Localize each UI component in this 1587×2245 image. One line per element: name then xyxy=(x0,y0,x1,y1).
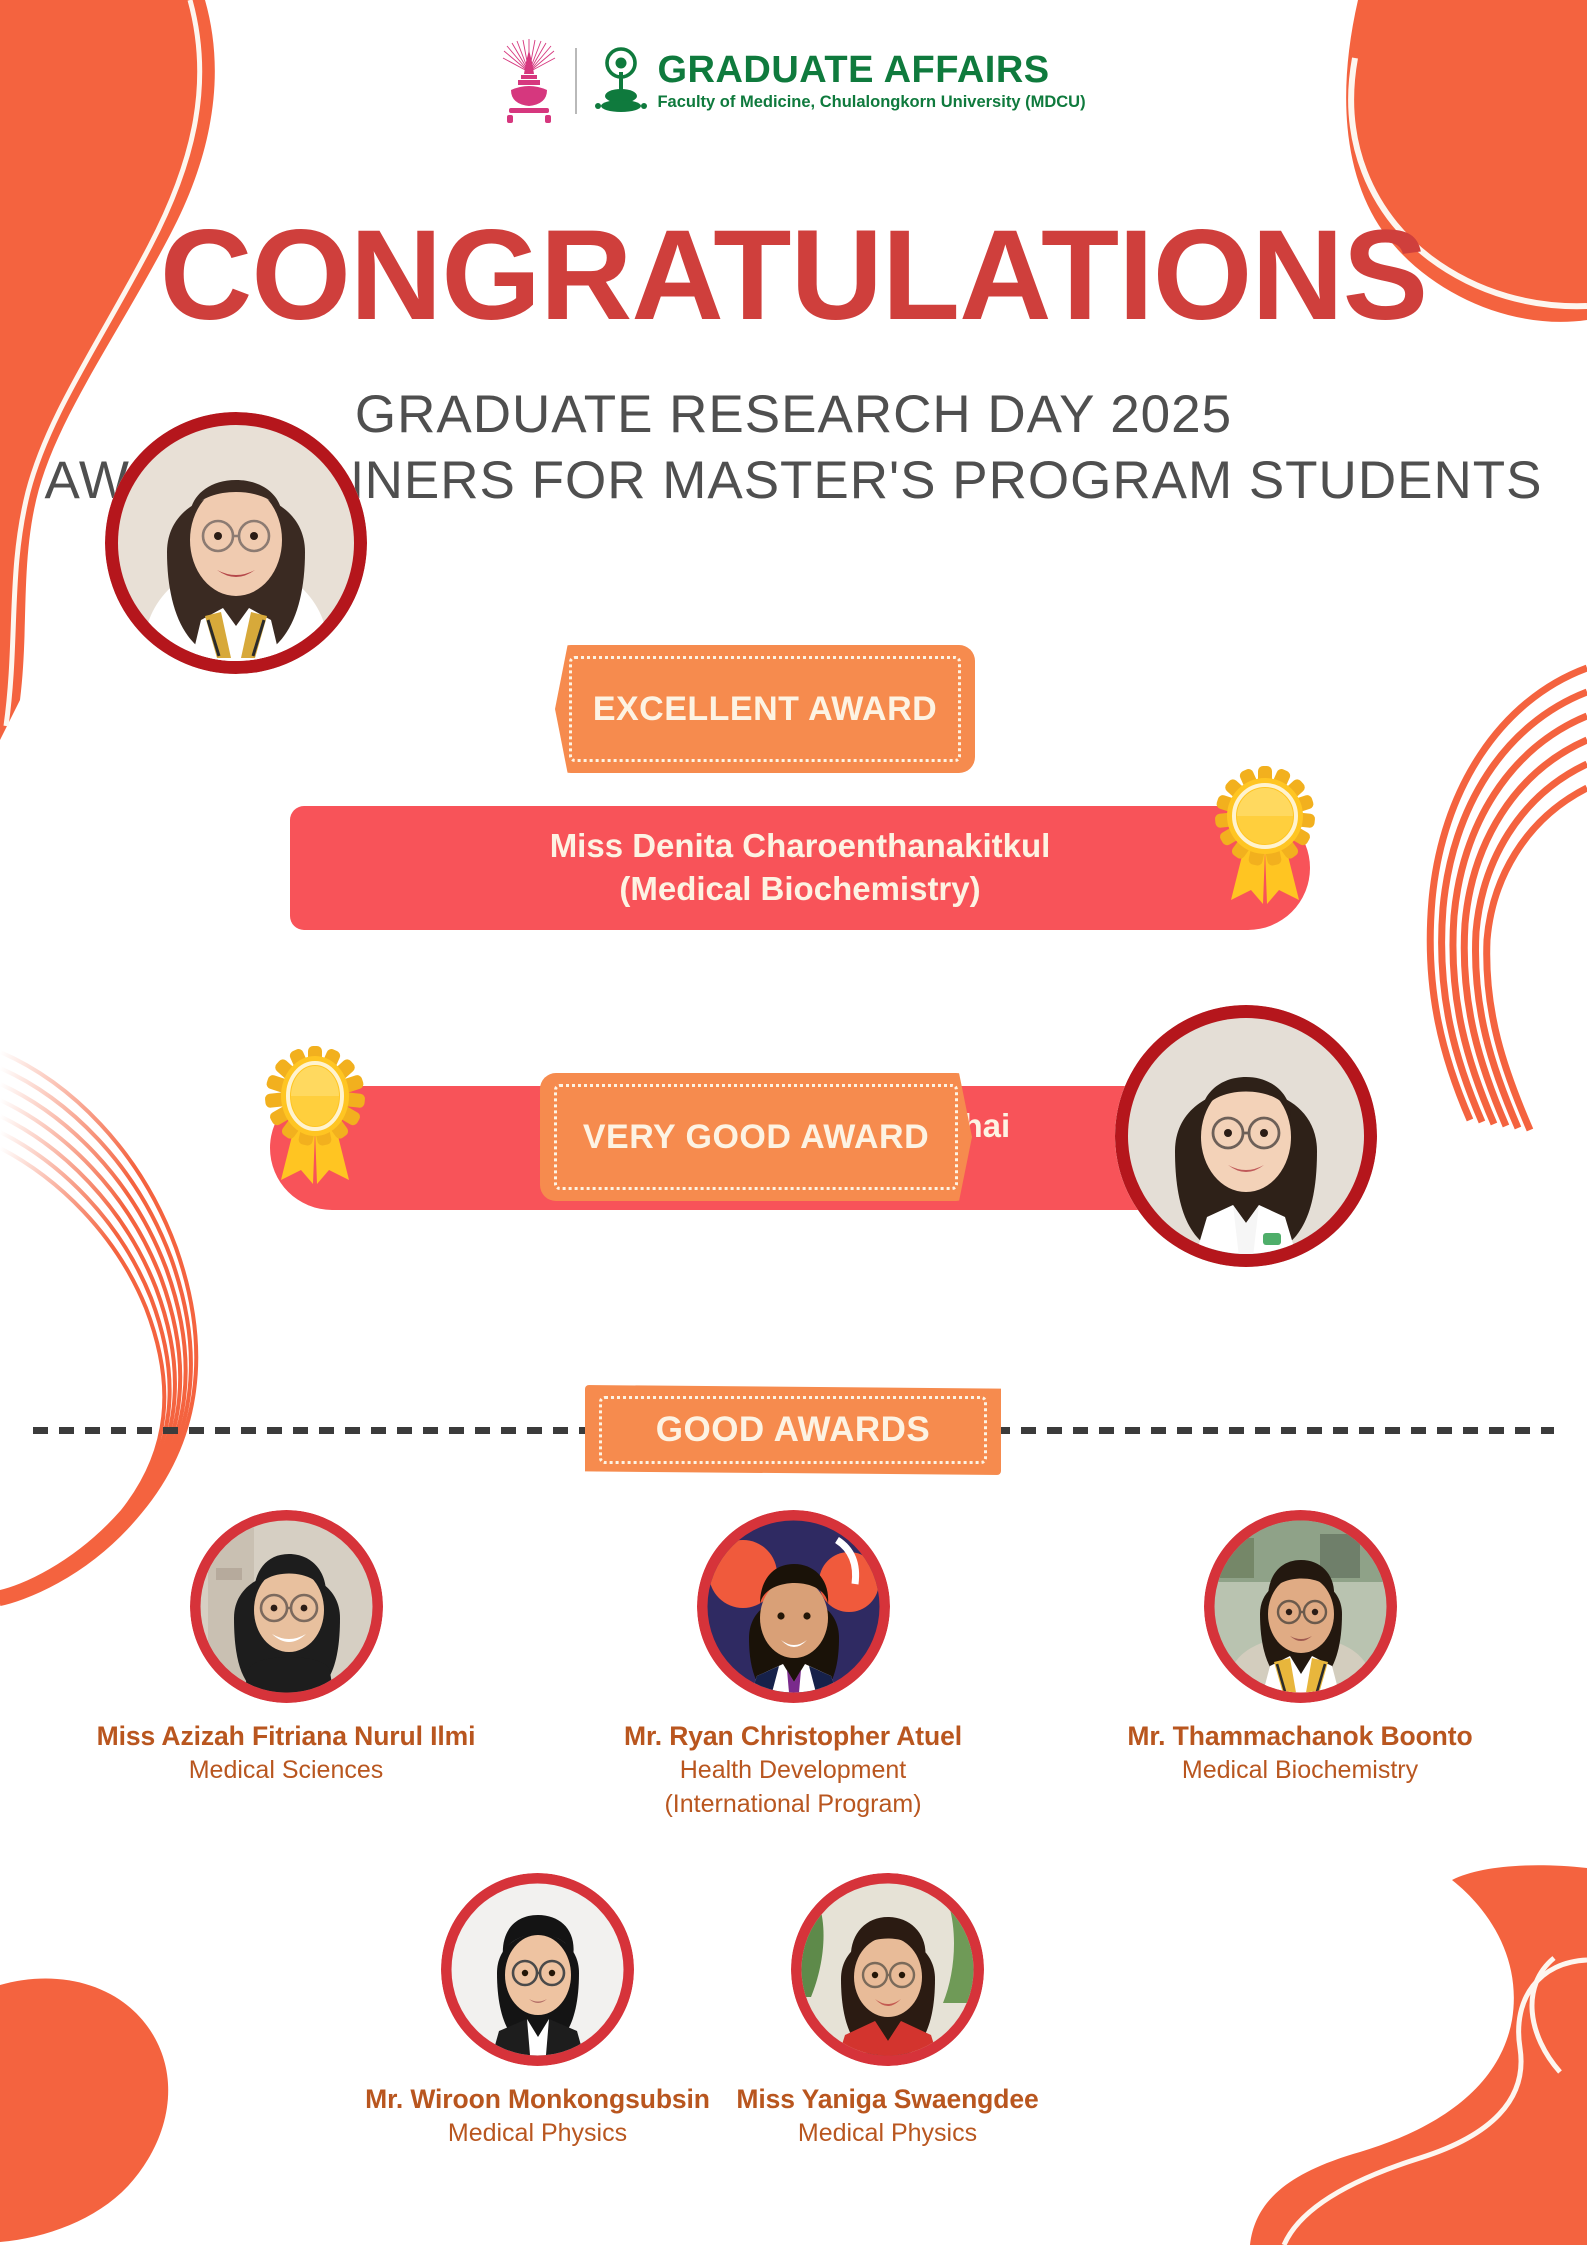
chulalongkorn-emblem xyxy=(501,38,557,124)
winner-dept: Medical Biochemistry xyxy=(1050,1754,1550,1787)
award-winner-text-excellent: Miss Denita Charoenthanakitkul (Medical … xyxy=(550,825,1051,911)
photo-ryan-christopher-atuel xyxy=(697,1510,890,1703)
award-banner-excellent: EXCELLENT AWARD xyxy=(555,645,975,773)
page-title: CONGRATULATIONS xyxy=(0,212,1587,340)
deco-blob-bottom-left xyxy=(0,1979,168,2242)
winner-name: Miss Azizah Fitriana Nurul Ilmi xyxy=(36,1720,536,1753)
photo-yaniga-swaengdee xyxy=(791,1873,984,2066)
winner-dept: Medical Sciences xyxy=(36,1754,536,1787)
photo-azizah-fitriana-nurul-ilmi xyxy=(190,1510,383,1703)
winner-dept-line2: (International Program) xyxy=(543,1788,1043,1821)
good-awards-banner: GOOD AWARDS xyxy=(585,1385,1001,1475)
award-winner-program-excellent: (Medical Biochemistry) xyxy=(550,868,1051,911)
winner-name: Mr. Ryan Christopher Atuel xyxy=(543,1720,1043,1753)
deco-arcs-right xyxy=(1430,668,1587,1130)
congratulations-poster: GRADUATE AFFAIRS Faculty of Medicine, Ch… xyxy=(0,0,1587,2245)
award-name-bar-excellent: Miss Denita Charoenthanakitkul (Medical … xyxy=(290,806,1310,930)
deco-blob-bottom-right xyxy=(1250,1865,1587,2245)
winner-card-thammachanok: Mr. Thammachanok Boonto Medical Biochemi… xyxy=(1050,1510,1550,1787)
logo-title: GRADUATE AFFAIRS xyxy=(657,51,1085,90)
winner-card-ryan: Mr. Ryan Christopher Atuel Health Develo… xyxy=(543,1510,1043,1820)
winner-name: Miss Yaniga Swaengdee xyxy=(655,2083,1120,2116)
photo-denita-charoenthanakitkul xyxy=(105,412,367,674)
good-awards-banner-label: GOOD AWARDS xyxy=(656,1410,931,1450)
winner-dept: Health Development xyxy=(543,1754,1043,1787)
photo-thammachanok-boonto xyxy=(1204,1510,1397,1703)
award-banner-verygood: VERY GOOD AWARD xyxy=(540,1073,972,1201)
award-rosette-icon-excellent xyxy=(1205,758,1325,908)
header-logo: GRADUATE AFFAIRS Faculty of Medicine, Ch… xyxy=(0,38,1587,124)
award-rosette-icon-very-good xyxy=(255,1038,375,1188)
photo-wiroon-monkongsubsin xyxy=(441,1873,634,2066)
award-banner-label-very-good: VERY GOOD AWARD xyxy=(583,1118,929,1157)
logo-text-block: GRADUATE AFFAIRS Faculty of Medicine, Ch… xyxy=(595,46,1085,116)
photo-kornrawee-sawasdichai xyxy=(1115,1005,1377,1267)
logo-subtitle: Faculty of Medicine, Chulalongkorn Unive… xyxy=(657,93,1085,111)
award-winner-name-excellent: Miss Denita Charoenthanakitkul xyxy=(550,825,1051,868)
award-banner-label-excellent: EXCELLENT AWARD xyxy=(593,690,937,729)
winner-name: Mr. Thammachanok Boonto xyxy=(1050,1720,1550,1753)
winner-card-yaniga: Miss Yaniga Swaengdee Medical Physics xyxy=(655,1873,1120,2150)
logo-divider xyxy=(575,48,577,114)
graduate-affairs-mark xyxy=(595,46,647,116)
winner-card-azizah: Miss Azizah Fitriana Nurul Ilmi Medical … xyxy=(36,1510,536,1787)
winner-dept: Medical Physics xyxy=(655,2117,1120,2150)
